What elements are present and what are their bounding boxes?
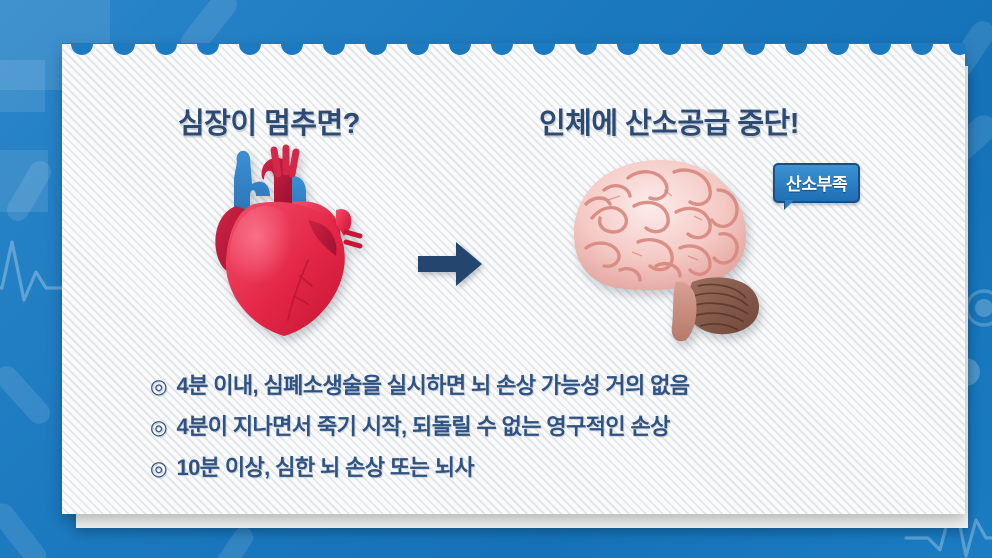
list-item-text: 10분 이상, 심한 뇌 손상 또는 뇌사 <box>176 450 474 482</box>
bullet-marker-icon: ◎ <box>150 459 167 479</box>
list-item-text: 4분 이내, 심폐소생술을 실시하면 뇌 손상 가능성 거의 없음 <box>176 368 689 400</box>
brain-illustration <box>568 156 782 342</box>
decor-block-top-left-b <box>0 60 45 112</box>
bullet-list: ◎ 4분 이내, 심폐소생술을 실시하면 뇌 손상 가능성 거의 없음 ◎ 4분… <box>150 368 890 491</box>
heading-right: 인체에 산소공급 중단! <box>539 100 799 142</box>
list-item-text: 4분이 지나면서 죽기 시작, 되돌릴 수 없는 영구적인 손상 <box>176 409 669 441</box>
list-item: ◎ 4분 이내, 심폐소생술을 실시하면 뇌 손상 가능성 거의 없음 <box>150 368 890 400</box>
bullet-marker-icon: ◎ <box>150 418 167 438</box>
list-item: ◎ 10분 이상, 심한 뇌 손상 또는 뇌사 <box>150 450 890 482</box>
right-arrow-icon <box>416 238 484 290</box>
badge-label: 산소부족 <box>786 175 847 194</box>
card-scallop-edge <box>62 43 965 61</box>
infographic-slide: 심장이 멈추면? 인체에 산소공급 중단! <box>0 0 992 558</box>
bullet-marker-icon: ◎ <box>150 377 167 397</box>
badge-tail-icon <box>785 200 794 209</box>
heading-left: 심장이 멈추면? <box>178 100 360 142</box>
list-item: ◎ 4분이 지나면서 죽기 시작, 되돌릴 수 없는 영구적인 손상 <box>150 409 890 441</box>
status-badge-oxygen-deficiency[interactable]: 산소부족 <box>773 163 860 203</box>
heart-illustration <box>196 144 372 340</box>
